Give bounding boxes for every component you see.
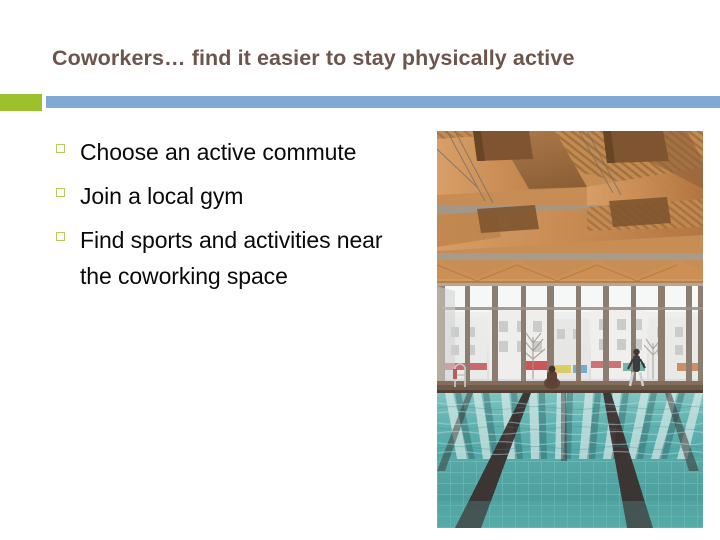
- hollow-square-bullet-icon: [56, 144, 65, 153]
- bullet-list: Choose an active commute Join a local gy…: [50, 134, 400, 302]
- accent-bar-green: [0, 94, 42, 111]
- list-item: Join a local gym: [50, 178, 400, 214]
- list-item: Choose an active commute: [50, 134, 400, 170]
- hollow-square-bullet-icon: [56, 188, 65, 197]
- presentation-slide: Coworkers… find it easier to stay physic…: [0, 0, 720, 540]
- accent-bar-blue: [46, 96, 720, 108]
- list-item-label: Find sports and activities near the cowo…: [80, 222, 400, 294]
- swimming-pool-photo: [437, 131, 703, 528]
- list-item-label: Join a local gym: [80, 178, 400, 214]
- list-item-label: Choose an active commute: [80, 134, 400, 170]
- hollow-square-bullet-icon: [56, 232, 65, 241]
- page-title: Coworkers… find it easier to stay physic…: [52, 44, 672, 72]
- list-item: Find sports and activities near the cowo…: [50, 222, 400, 294]
